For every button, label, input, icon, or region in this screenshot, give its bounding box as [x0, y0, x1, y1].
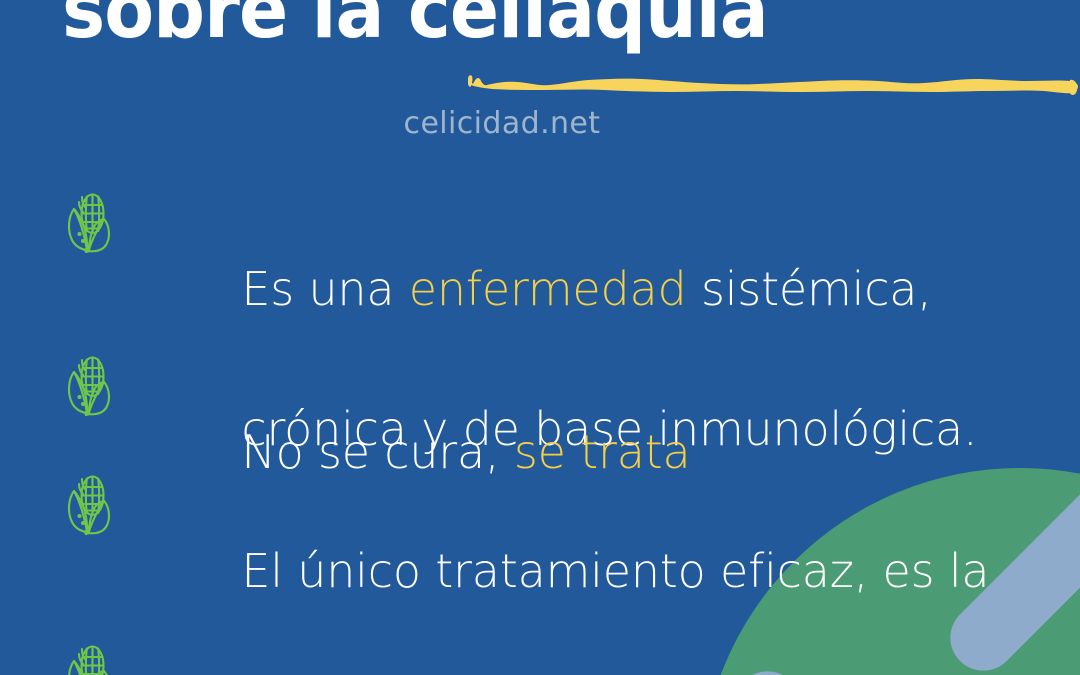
text-segment: El único tratamiento eficaz, es la	[241, 544, 989, 598]
text-segment: Es una	[241, 262, 408, 316]
list-item	[60, 637, 126, 675]
list-item: El único tratamiento eficaz, es la dieta…	[60, 467, 1054, 675]
list-item-text: El único tratamiento eficaz, es la dieta…	[126, 467, 1054, 675]
bullet-list: Es una enfermedad sistémica, crónica y d…	[0, 0, 1080, 675]
text-segment: sistémica,	[687, 262, 932, 316]
corn-icon	[60, 471, 114, 537]
highlight-segment: enfermedad	[409, 262, 687, 316]
poster-canvas: sobre la celiaquía celicidad.net	[0, 0, 1080, 675]
corn-icon	[60, 189, 114, 255]
corn-icon	[60, 641, 114, 675]
corn-icon	[60, 352, 114, 418]
